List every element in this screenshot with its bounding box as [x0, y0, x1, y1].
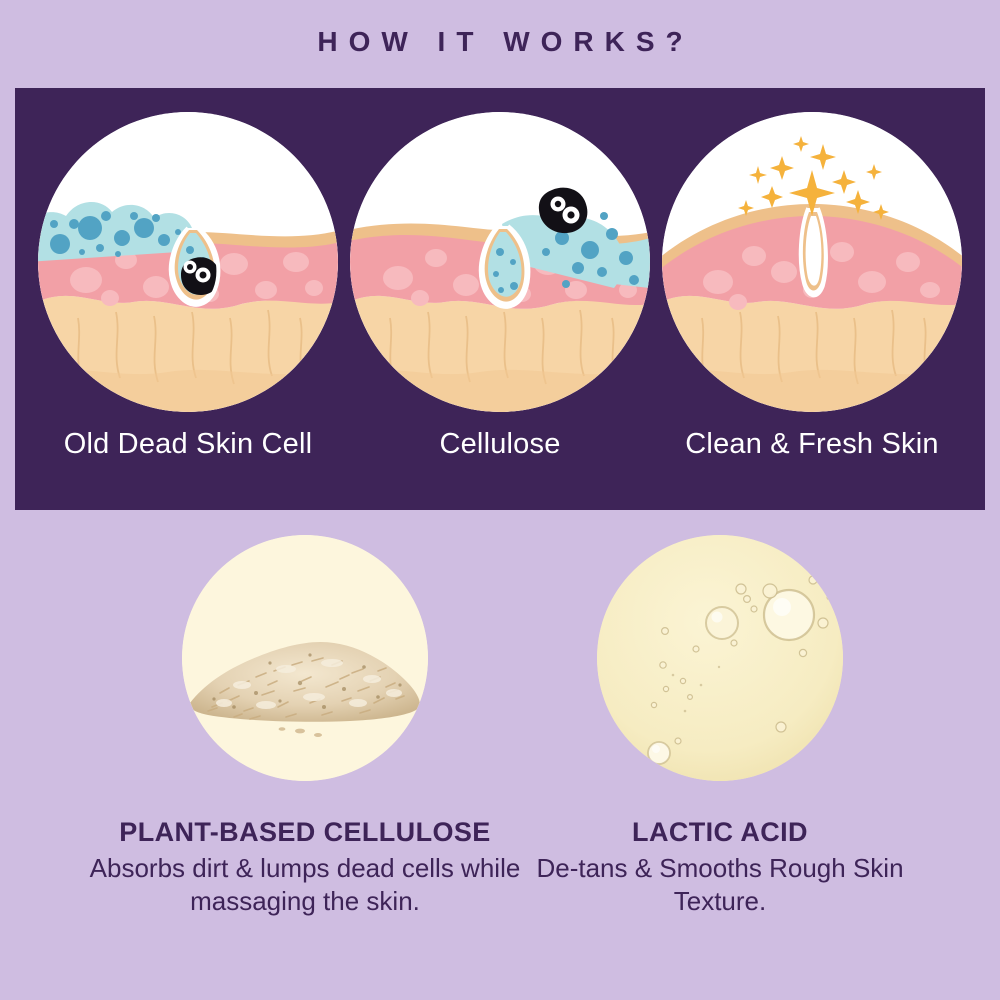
- page-title: HOW IT WORKS?: [0, 26, 1000, 58]
- cellulose-powder-circle: [182, 535, 428, 781]
- serum-bubble: [648, 742, 670, 764]
- ingredient-desc-lactic-acid: De-tans & Smooths Rough Skin Texture.: [490, 852, 950, 919]
- step-old-dead-skin-cell: Old Dead Skin Cell: [38, 112, 338, 492]
- ingredient-desc-cellulose: Absorbs dirt & lumps dead cells while ma…: [75, 852, 535, 919]
- how-it-works-panel: Old Dead Skin Cell: [15, 88, 985, 510]
- step-cellulose: Cellulose: [350, 112, 650, 492]
- step-3-label: Clean & Fresh Skin: [632, 428, 992, 461]
- skin-cross-section-clogged-pore-icon: [38, 112, 338, 412]
- lactic-acid-serum-circle: [597, 535, 843, 781]
- skin-cross-section-cellulose-lifting-icon: [350, 112, 650, 412]
- skin-cross-section-clean-pore-sparkle-icon: [662, 112, 962, 412]
- step-3-illustration-circle: [662, 112, 962, 412]
- step-2-label: Cellulose: [320, 428, 680, 461]
- ingredient-lactic-acid: LACTIC ACID De-tans & Smooths Rough Skin…: [490, 535, 950, 919]
- ingredient-plant-based-cellulose: PLANT-BASED CELLULOSE Absorbs dirt & lum…: [75, 535, 535, 919]
- lactic-acid-serum-photo: [597, 535, 843, 781]
- step-1-label: Old Dead Skin Cell: [8, 428, 368, 461]
- serum-bubble: [706, 607, 738, 639]
- step-1-illustration-circle: [38, 112, 338, 412]
- cellulose-powder-photo: [182, 535, 428, 781]
- step-2-illustration-circle: [350, 112, 650, 412]
- ingredient-title-lactic-acid: LACTIC ACID: [490, 817, 950, 848]
- ingredient-title-cellulose: PLANT-BASED CELLULOSE: [75, 817, 535, 848]
- step-clean-fresh-skin: Clean & Fresh Skin: [662, 112, 962, 492]
